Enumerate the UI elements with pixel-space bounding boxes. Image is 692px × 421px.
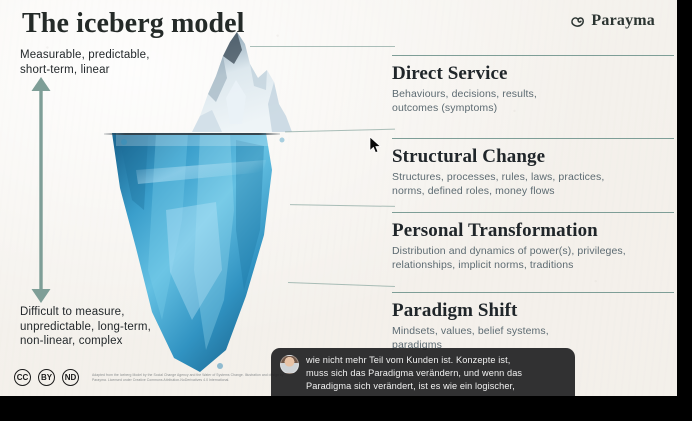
- iceberg-illustration: [96, 20, 396, 380]
- credit-text: Adapted from the Iceberg Model by the So…: [92, 373, 297, 383]
- level-heading: Personal Transformation: [392, 220, 674, 242]
- brand-logo: Parayma: [570, 12, 655, 30]
- level-heading: Direct Service: [392, 63, 674, 85]
- cc-by-icon: BY: [38, 369, 55, 386]
- level-block-direct-service[interactable]: Direct Service Behaviours, decisions, re…: [392, 55, 674, 115]
- leaf-swirl-icon: [570, 13, 586, 29]
- connector-line-0: [250, 46, 395, 47]
- caption-overlay: wie nicht mehr Teil vom Kunden ist. Konz…: [271, 348, 575, 396]
- level-body: Distribution and dynamics of power(s), p…: [392, 245, 674, 272]
- level-block-personal-transformation[interactable]: Personal Transformation Distribution and…: [392, 212, 674, 272]
- caption-text: wie nicht mehr Teil vom Kunden ist. Konz…: [306, 354, 522, 396]
- caption-line: wie nicht mehr Teil vom Kunden ist. Konz…: [306, 354, 522, 367]
- level-heading: Structural Change: [392, 146, 674, 168]
- iceberg-tip: [192, 32, 292, 132]
- vertical-double-arrow-icon: [26, 74, 56, 306]
- letterbox-bottom: [0, 396, 692, 421]
- speaker-avatar: [280, 355, 299, 374]
- level-block-structural-change[interactable]: Structural Change Structures, processes,…: [392, 138, 674, 198]
- divider: [392, 292, 674, 293]
- slide-canvas[interactable]: The iceberg model Parayma Measurable, pr…: [0, 0, 677, 396]
- brand-name: Parayma: [591, 12, 655, 30]
- mouse-cursor: [369, 136, 382, 155]
- level-body: Behaviours, decisions, results, outcomes…: [392, 88, 674, 115]
- divider: [392, 138, 674, 139]
- caption-line: Paradigma sich verändert, ist es wie ein…: [306, 380, 522, 393]
- screen: The iceberg model Parayma Measurable, pr…: [0, 0, 692, 421]
- divider: [392, 55, 674, 56]
- divider: [392, 212, 674, 213]
- level-heading: Paradigm Shift: [392, 300, 674, 322]
- level-block-paradigm-shift[interactable]: Paradigm Shift Mindsets, values, belief …: [392, 292, 674, 352]
- caption-line: muss sich das Paradigma verändern, und w…: [306, 367, 522, 380]
- level-body: Structures, processes, rules, laws, prac…: [392, 171, 674, 198]
- letterbox-right: [677, 0, 692, 421]
- cc-nd-icon: ND: [62, 369, 79, 386]
- licence-footer: CC BY ND Adapted from the Iceberg Model …: [14, 369, 297, 386]
- cc-icon: CC: [14, 369, 31, 386]
- iceberg-submerged: [112, 133, 285, 372]
- waterline-divider: [104, 133, 280, 135]
